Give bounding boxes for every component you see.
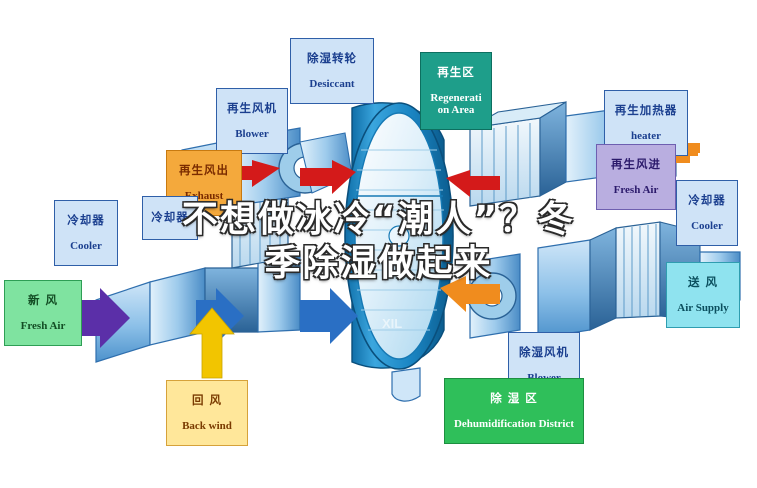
label-regen-inlet-cn: 再生风进 <box>600 158 672 171</box>
label-desiccant-cn: 除湿转轮 <box>294 52 370 65</box>
label-desiccant-en: Desiccant <box>294 78 370 90</box>
label-cooler-right-en: Cooler <box>680 220 734 232</box>
label-dehumidification-district-cn: 除 湿 区 <box>448 392 580 405</box>
label-regeneration-area-cn: 再生区 <box>424 66 488 79</box>
label-cooler-left-cn: 冷却器 <box>58 214 114 227</box>
ghost-text: XIL <box>382 316 402 331</box>
label-back-wind-cn: 回 风 <box>170 394 244 407</box>
label-regen-heater-en: heater <box>608 130 684 142</box>
label-regen-blower-en: Blower <box>220 128 284 140</box>
label-exhaust-cn: 再生风出 <box>170 164 238 177</box>
label-desiccant: 除湿转轮 Desiccant <box>290 38 374 104</box>
label-air-supply-en: Air Supply <box>670 302 736 314</box>
label-regen-blower: 再生风机 Blower <box>216 88 288 154</box>
label-cooler-left-en: Cooler <box>58 240 114 252</box>
label-cooler-right: 冷却器 Cooler <box>676 180 738 246</box>
label-cooler-mid: 冷却器 <box>142 196 198 240</box>
label-cooler-right-cn: 冷却器 <box>680 194 734 207</box>
label-regeneration-area: 再生区 Regenerati on Area <box>420 52 492 130</box>
label-regeneration-area-en: Regenerati on Area <box>424 92 488 117</box>
label-dehum-blower-cn: 除湿风机 <box>512 346 576 359</box>
label-back-wind: 回 风 Back wind <box>166 380 248 446</box>
label-fresh-air: 新 风 Fresh Air <box>4 280 82 346</box>
label-regen-inlet-en: Fresh Air <box>600 184 672 196</box>
label-cooler-mid-cn: 冷却器 <box>146 211 194 224</box>
label-dehumidification-district-en: Dehumidification District <box>448 418 580 430</box>
label-fresh-air-en: Fresh Air <box>8 320 78 332</box>
label-regen-heater-cn: 再生加热器 <box>608 104 684 117</box>
label-air-supply-cn: 送 风 <box>670 276 736 289</box>
diagram-canvas: XIL 除湿转轮 Desiccant 再生区 Regenerati on Are… <box>0 0 757 488</box>
label-air-supply: 送 风 Air Supply <box>666 262 740 328</box>
label-fresh-air-cn: 新 风 <box>8 294 78 307</box>
label-cooler-left: 冷却器 Cooler <box>54 200 118 266</box>
label-regen-inlet: 再生风进 Fresh Air <box>596 144 676 210</box>
label-back-wind-en: Back wind <box>170 420 244 432</box>
label-dehumidification-district: 除 湿 区 Dehumidification District <box>444 378 584 444</box>
label-regen-blower-cn: 再生风机 <box>220 102 284 115</box>
